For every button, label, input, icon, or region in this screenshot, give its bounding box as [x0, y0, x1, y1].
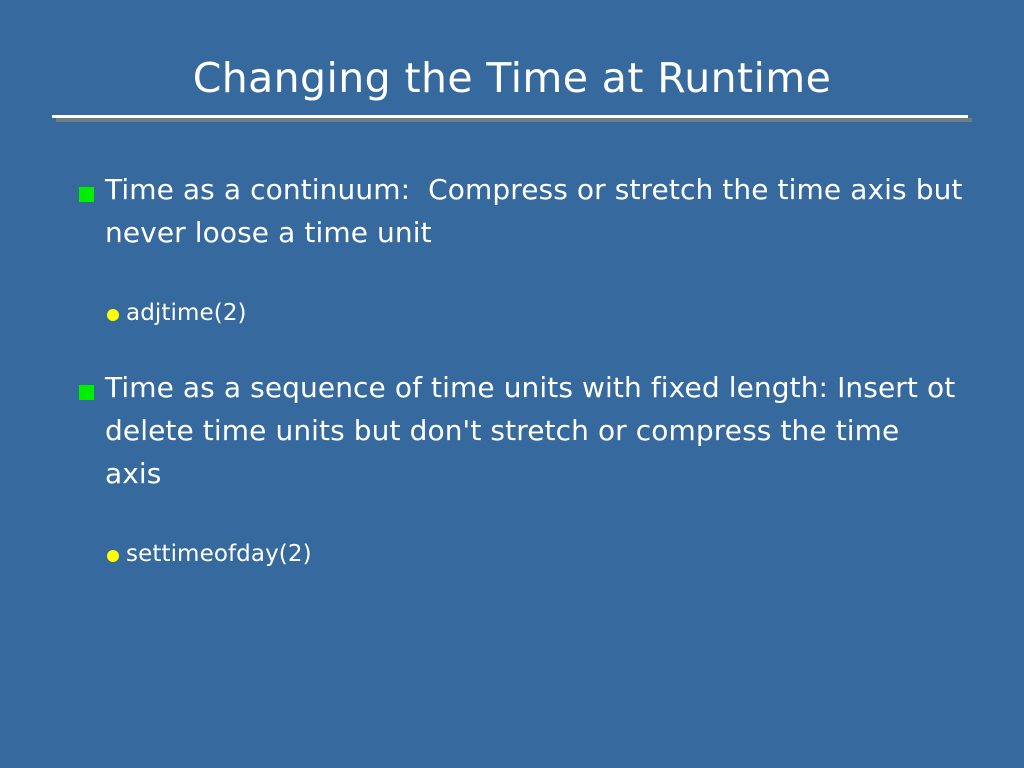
spacer — [0, 495, 1024, 537]
square-bullet-icon — [79, 385, 94, 400]
spacer — [0, 254, 1024, 296]
page-title: Changing the Time at Runtime — [0, 52, 1024, 104]
bullet-item-level1: Time as a sequence of time units with fi… — [0, 366, 1024, 495]
divider-shadow — [56, 118, 972, 122]
disc-bullet-icon — [107, 550, 119, 562]
disc-bullet-icon — [107, 309, 119, 321]
slide-title-block: Changing the Time at Runtime — [0, 52, 1024, 104]
bullet-text: settimeofday(2) — [126, 537, 964, 571]
slide-body: Time as a continuum: Compress or stretch… — [0, 168, 1024, 571]
bullet-text: adjtime(2) — [126, 296, 964, 330]
bullet-item-level2: settimeofday(2) — [0, 537, 1024, 571]
bullet-item-level1: Time as a continuum: Compress or stretch… — [0, 168, 1024, 254]
square-bullet-icon — [79, 187, 94, 202]
title-divider — [52, 115, 968, 122]
bullet-text: Time as a continuum: Compress or stretch… — [105, 168, 964, 254]
slide-canvas: Changing the Time at Runtime Time as a c… — [0, 0, 1024, 768]
spacer — [0, 330, 1024, 366]
bullet-text: Time as a sequence of time units with fi… — [105, 366, 964, 495]
bullet-item-level2: adjtime(2) — [0, 296, 1024, 330]
